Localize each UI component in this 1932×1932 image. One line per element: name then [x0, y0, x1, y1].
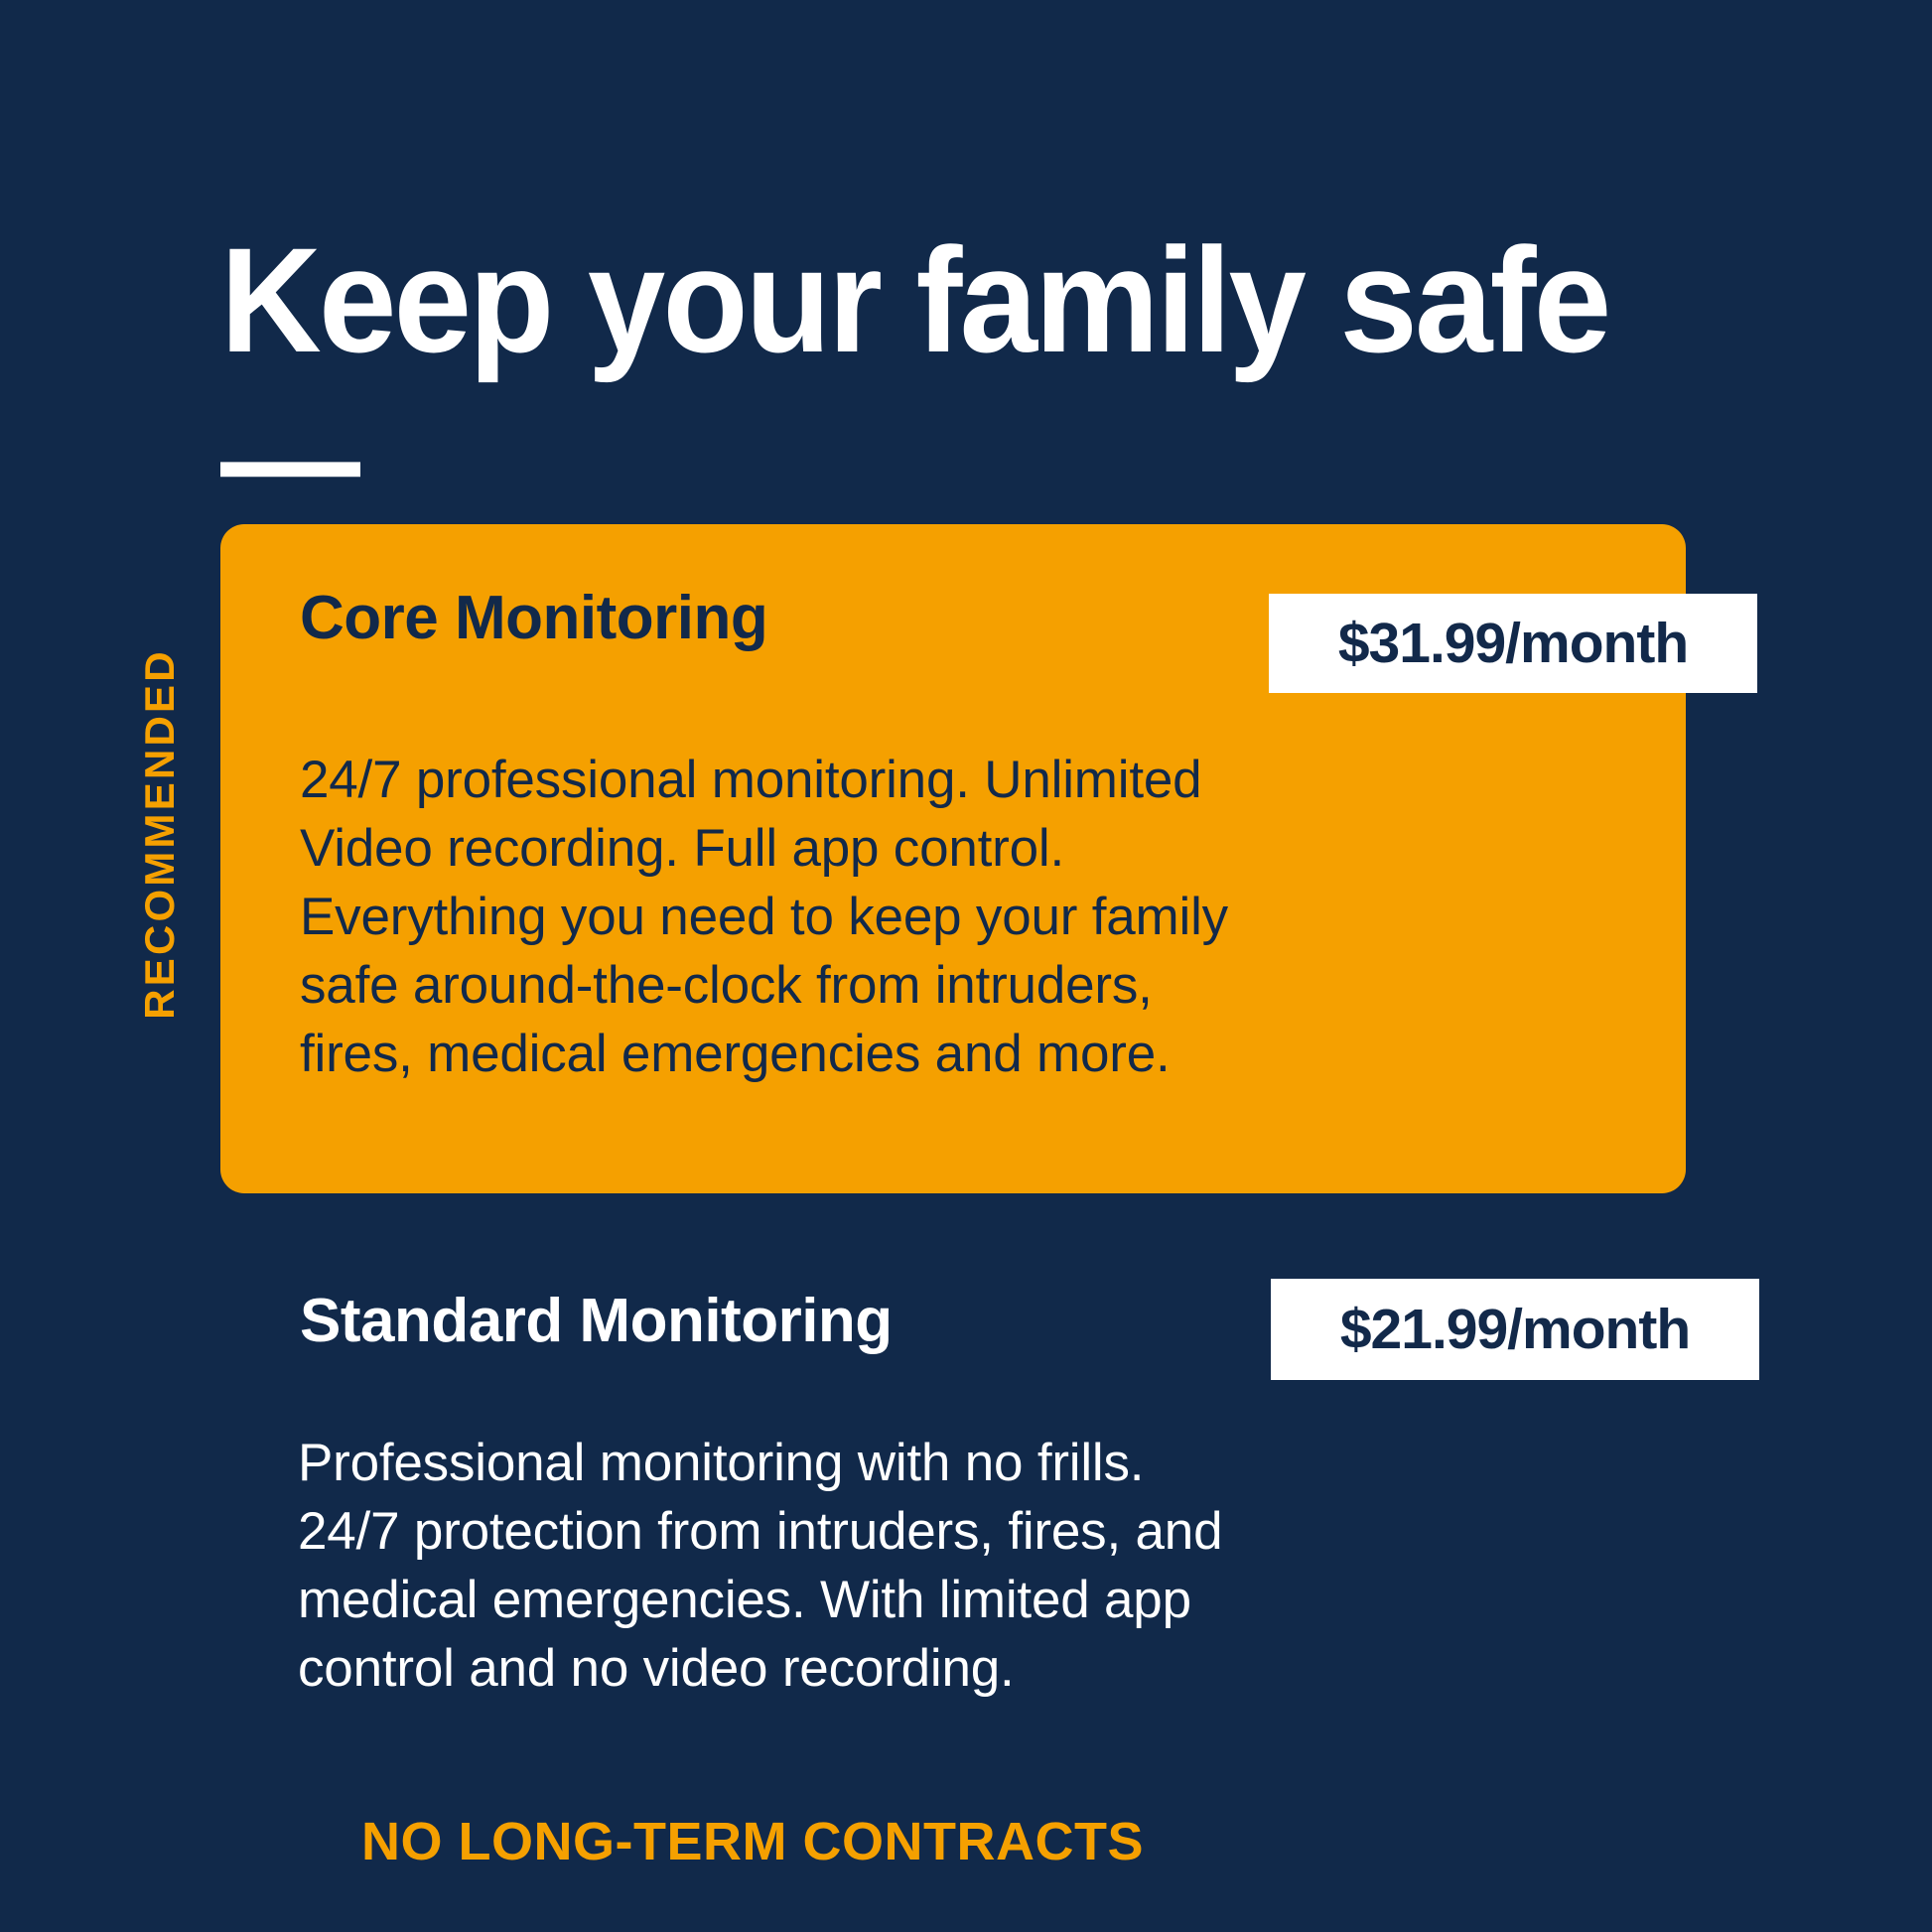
- plan-price-standard: $21.99/month: [1271, 1279, 1759, 1380]
- plan-name-standard: Standard Monitoring: [300, 1291, 893, 1352]
- recommended-badge-label: RECOMMENDED: [136, 648, 184, 1020]
- pricing-poster: Keep your family safe — no matter where …: [0, 0, 1932, 1932]
- plan-price-core: $31.99/month: [1269, 594, 1757, 693]
- footer-no-contracts-note: NO LONG-TERM CONTRACTS: [0, 1811, 1932, 1872]
- plan-description-standard: Professional monitoring with no frills. …: [298, 1430, 1688, 1704]
- recommended-badge: RECOMMENDED: [125, 556, 195, 1112]
- plan-description-core: 24/7 professional monitoring. Unlimited …: [300, 747, 1650, 1088]
- plan-name-core: Core Monitoring: [300, 588, 767, 649]
